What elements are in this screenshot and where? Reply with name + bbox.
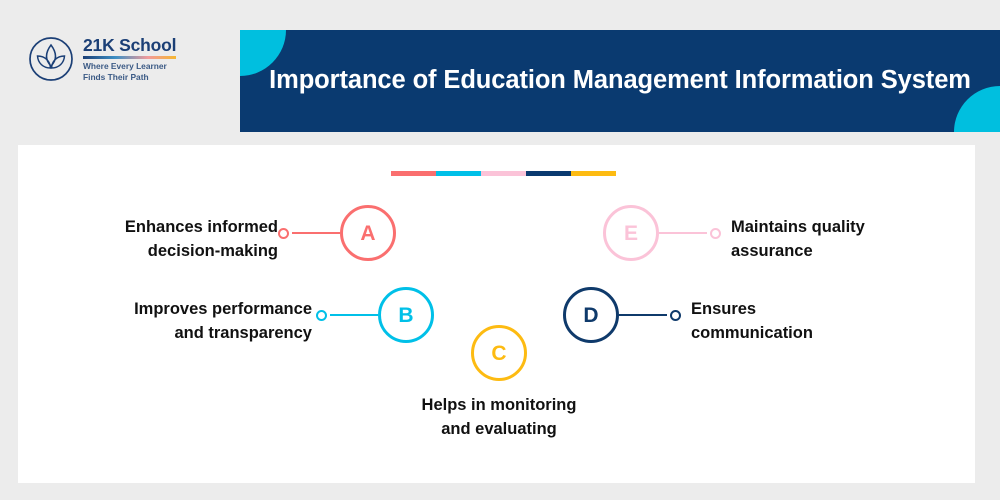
connector-endpoint-b	[316, 310, 327, 321]
node-letter-b: B	[398, 305, 413, 326]
node-label-line1-a: Enhances informed	[125, 218, 278, 236]
node-letter-a: A	[360, 223, 375, 244]
page-title: Importance of Education Management Infor…	[251, 63, 989, 98]
node-letter-d: D	[583, 305, 598, 326]
connector-line-a	[292, 232, 340, 234]
connector-endpoint-a	[278, 228, 289, 239]
node-label-b: Improves performanceand transparency	[78, 297, 312, 346]
node-circle-d[interactable]: D	[563, 287, 619, 343]
brand-tagline: Where Every Learner Finds Their Path	[83, 61, 176, 83]
node-label-line1-c: Helps in monitoring	[422, 396, 577, 414]
lotus-circle-logo-icon	[28, 36, 74, 82]
node-letter-c: C	[491, 343, 506, 364]
node-label-line1-e: Maintains quality	[731, 218, 865, 236]
node-circle-b[interactable]: B	[378, 287, 434, 343]
node-label-d: Ensurescommunication	[691, 297, 911, 346]
node-circle-a[interactable]: A	[340, 205, 396, 261]
node-label-line2-b: and transparency	[174, 324, 312, 342]
node-letter-e: E	[624, 223, 638, 244]
node-label-line1-d: Ensures	[691, 300, 756, 318]
node-circle-e[interactable]: E	[603, 205, 659, 261]
brand-text-block: 21K School Where Every Learner Finds The…	[83, 35, 176, 82]
node-label-c: Helps in monitoringand evaluating	[389, 393, 609, 442]
connector-endpoint-e	[710, 228, 721, 239]
node-label-a: Enhances informeddecision-making	[78, 215, 278, 264]
node-label-e: Maintains qualityassurance	[731, 215, 951, 264]
node-label-line2-c: and evaluating	[441, 420, 557, 438]
brand-tagline-line2: Finds Their Path	[83, 72, 149, 82]
connector-line-d	[619, 314, 667, 316]
connector-endpoint-d	[670, 310, 681, 321]
header-banner: Importance of Education Management Infor…	[240, 30, 1000, 132]
node-circle-c[interactable]: C	[471, 325, 527, 381]
brand-tagline-line1: Where Every Learner	[83, 61, 167, 71]
brand-gradient-rule	[83, 56, 176, 59]
node-label-line1-b: Improves performance	[134, 300, 312, 318]
node-label-line2-d: communication	[691, 324, 813, 342]
content-panel: AEnhances informeddecision-makingBImprov…	[18, 145, 975, 483]
emis-benefits-diagram: AEnhances informeddecision-makingBImprov…	[18, 145, 975, 483]
node-label-line2-e: assurance	[731, 242, 813, 260]
connector-line-e	[659, 232, 707, 234]
brand-name: 21K School	[83, 36, 176, 54]
node-label-line2-a: decision-making	[148, 242, 278, 260]
connector-line-b	[330, 314, 378, 316]
brand-logo[interactable]: 21K School Where Every Learner Finds The…	[28, 30, 218, 88]
